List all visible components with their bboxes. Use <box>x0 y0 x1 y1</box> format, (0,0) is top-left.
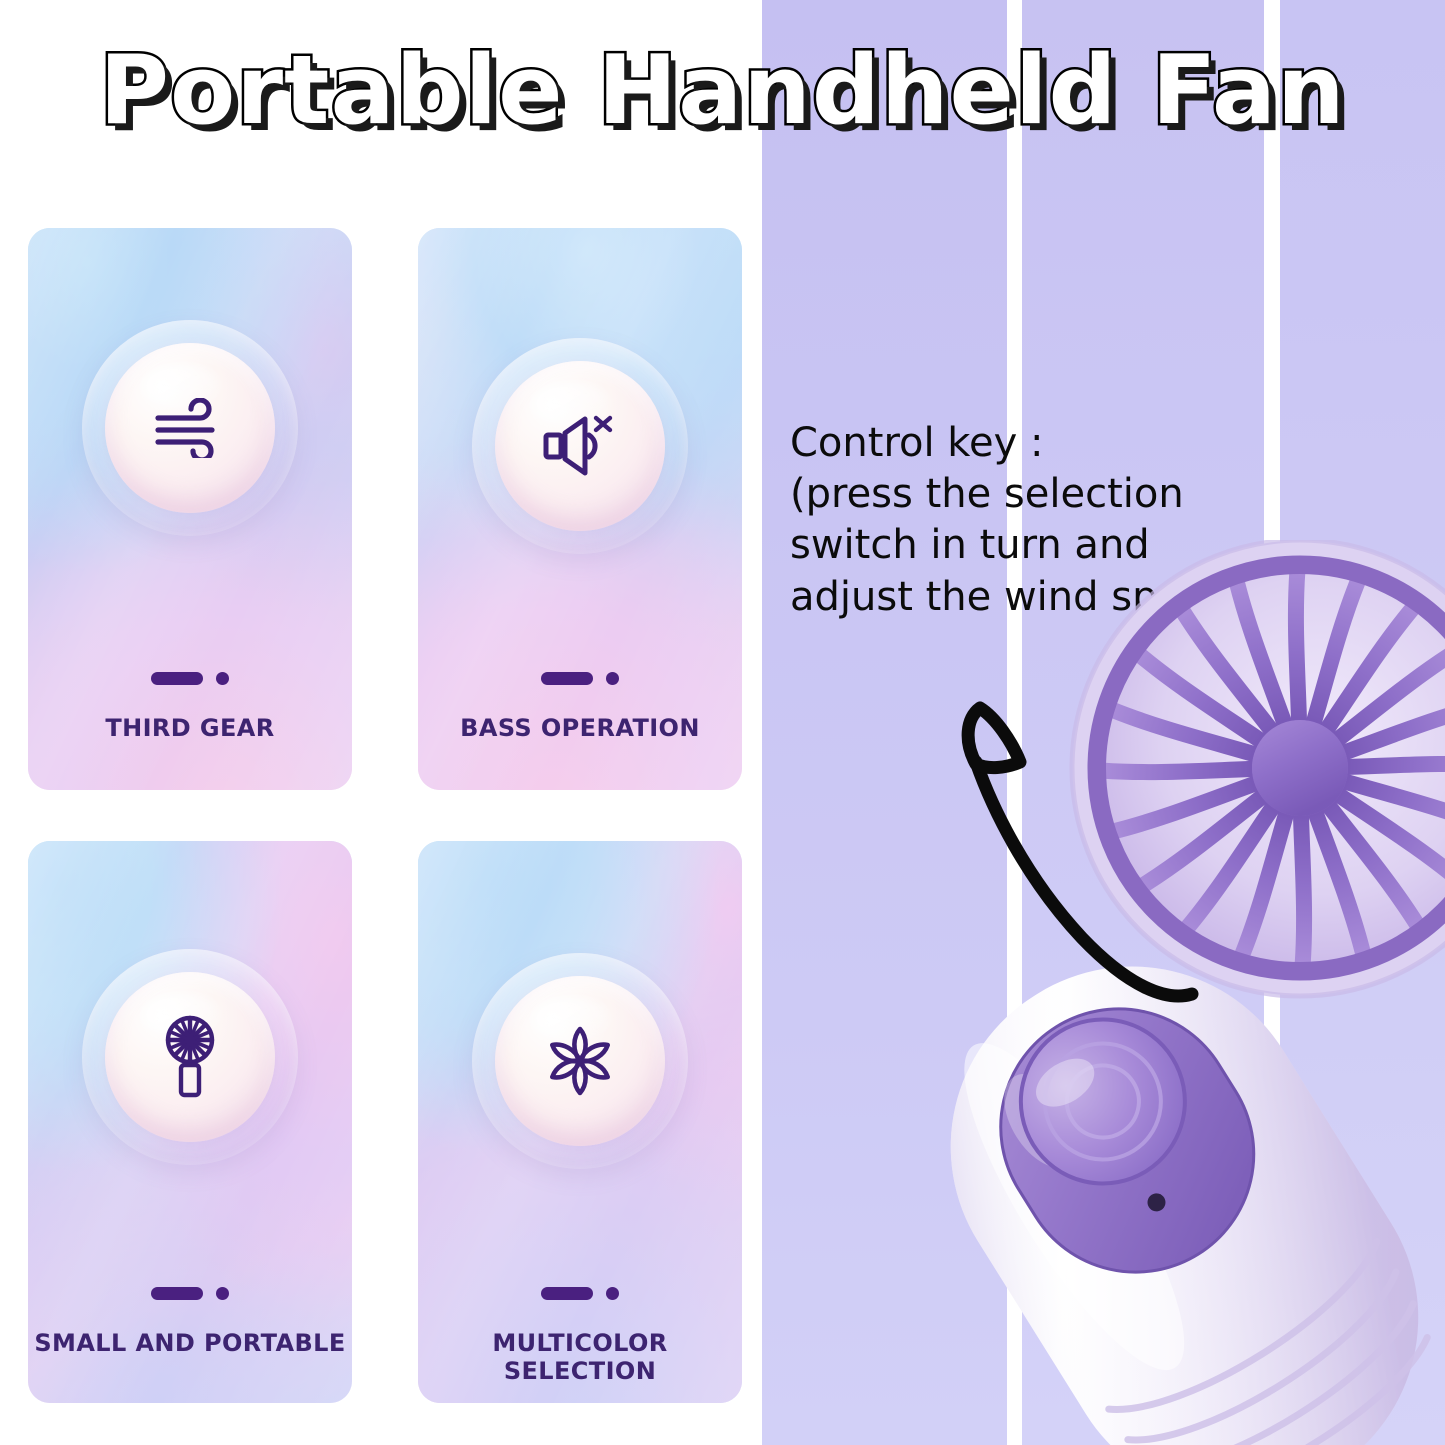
speaker-mute-icon <box>541 413 619 479</box>
indicator-dash <box>541 672 593 685</box>
indicator-dot <box>606 1287 619 1300</box>
curved-arrow-pointing-up <box>930 690 1250 1030</box>
page-title: Portable Handheld Fan <box>99 36 1345 146</box>
feature-card-bass-operation[interactable]: BASS OPERATION <box>418 228 742 790</box>
button-halo <box>82 320 298 536</box>
glossy-button[interactable] <box>495 976 665 1146</box>
button-halo <box>472 338 688 554</box>
button-halo <box>82 949 298 1165</box>
feature-card-multicolor-selection[interactable]: MULTICOLOR SELECTION <box>418 841 742 1403</box>
indicator-dash <box>151 672 203 685</box>
button-halo <box>472 953 688 1169</box>
wind-icon <box>152 398 228 458</box>
feature-label-multicolor-selection: MULTICOLOR SELECTION <box>418 1329 742 1385</box>
feature-label-small-and-portable: SMALL AND PORTABLE <box>28 1329 352 1357</box>
indicator-dot <box>216 672 229 685</box>
infographic-page: Portable Handheld Fan <box>0 0 1445 1445</box>
feature-label-third-gear: THIRD GEAR <box>28 714 352 742</box>
gear-indicator <box>151 672 229 685</box>
gear-indicator <box>541 672 619 685</box>
page-title-wrap: Portable Handheld Fan <box>0 36 1445 146</box>
gear-indicator <box>151 1287 229 1300</box>
feature-card-grid: THIRD GEAR BASS OPERATION <box>28 228 746 1403</box>
glossy-button[interactable] <box>105 972 275 1142</box>
handheld-fan-icon <box>159 1015 221 1099</box>
glossy-button[interactable] <box>495 361 665 531</box>
feature-label-bass-operation: BASS OPERATION <box>418 714 742 742</box>
indicator-dot <box>606 672 619 685</box>
flower-petal-icon <box>541 1022 619 1100</box>
feature-card-small-and-portable[interactable]: SMALL AND PORTABLE <box>28 841 352 1403</box>
indicator-dash <box>151 1287 203 1300</box>
indicator-dash <box>541 1287 593 1300</box>
glossy-button[interactable] <box>105 343 275 513</box>
indicator-dot <box>216 1287 229 1300</box>
caption-line-2: (press the selection <box>790 469 1310 520</box>
caption-line-1: Control key : <box>790 418 1310 469</box>
feature-card-third-gear[interactable]: THIRD GEAR <box>28 228 352 790</box>
gear-indicator <box>541 1287 619 1300</box>
